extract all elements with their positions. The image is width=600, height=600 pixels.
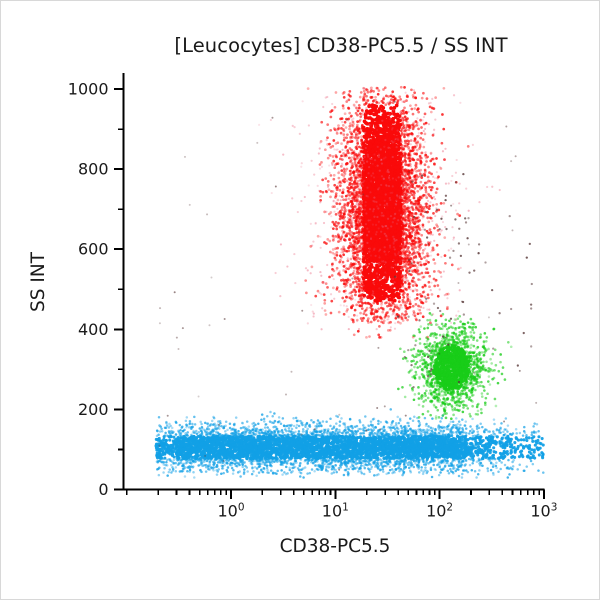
- chart-title: [Leucocytes] CD38-PC5.5 / SS INT: [174, 34, 507, 57]
- y-tick-label: 0: [98, 480, 108, 499]
- y-tick-label: 600: [78, 240, 109, 259]
- y-axis-label: SS INT: [28, 251, 49, 312]
- scatter-plot-canvas: [Leucocytes] CD38-PC5.5 / SS INT 0200400…: [1, 1, 600, 600]
- y-tick-label: 800: [78, 160, 109, 179]
- y-tick-label: 200: [78, 400, 109, 419]
- y-tick-label: 1000: [68, 80, 109, 99]
- flow-cytometry-dot-plot: [Leucocytes] CD38-PC5.5 / SS INT 0200400…: [0, 0, 600, 600]
- y-tick-label: 400: [78, 320, 109, 339]
- x-axis-label: CD38-PC5.5: [280, 536, 391, 557]
